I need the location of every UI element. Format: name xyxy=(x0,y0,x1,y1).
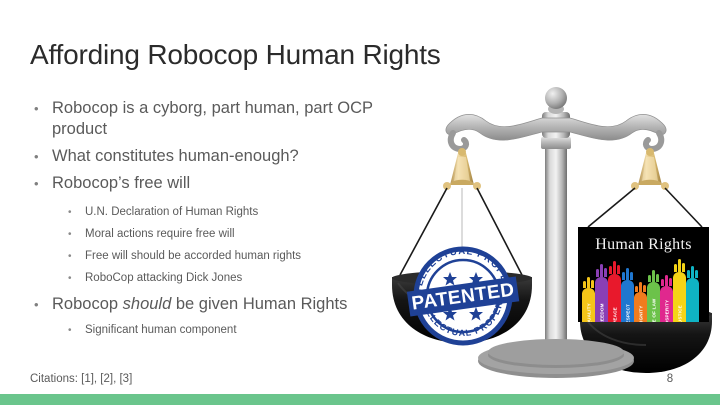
hand-label: RULE OF LAW xyxy=(651,299,656,322)
hand-label: RESPECT xyxy=(625,304,630,322)
bullet-marker: • xyxy=(30,294,52,315)
bullet-text: Robocop’s free will xyxy=(52,173,190,194)
accent-bottom-bar xyxy=(0,394,720,405)
hand-peace: PEACE xyxy=(608,274,621,322)
hand-peace-green: RULE OF LAW xyxy=(647,282,660,322)
sub-bullet-item: • Free will should be accorded human rig… xyxy=(30,247,430,266)
bullet-marker: • xyxy=(68,225,85,244)
sub-bullet-item: • U.N. Declaration of Human Rights xyxy=(30,203,430,222)
sub-bullet-text: Moral actions require free will xyxy=(85,225,235,244)
sub-bullet-text: Significant human component xyxy=(85,321,237,340)
bullet-item: • Robocop should be given Human Rights xyxy=(30,294,430,315)
poster-title: Human Rights xyxy=(578,236,709,254)
raised-hands-graphic: EQUALITY FREEDOM PEACE xyxy=(578,267,709,322)
bullet-item: • What constitutes human-enough? xyxy=(30,146,430,167)
hand-dignity: DIGNITY xyxy=(634,292,647,322)
hand-label: JUSTICE xyxy=(677,305,682,322)
bullet-marker: • xyxy=(68,247,85,266)
patented-stamp: INTELLECTUAL PROPERTY INTELLECTUAL PROPE… xyxy=(404,237,522,355)
sub-bullet-text: RoboCop attacking Dick Jones xyxy=(85,269,242,288)
hand-prosperity-pink: PROSPERITY xyxy=(660,286,673,322)
hand-equality: EQUALITY xyxy=(582,288,595,322)
slide-number: 8 xyxy=(655,373,685,385)
bullet-marker: • xyxy=(30,146,52,167)
human-rights-poster: Human Rights EQUALITY FREEDOM xyxy=(578,227,709,322)
hand-label: FREEDOM xyxy=(599,303,604,322)
hand-justice-yellow: JUSTICE xyxy=(673,272,686,322)
bullet-text: Robocop is a cyborg, part human, part OC… xyxy=(52,98,430,140)
hand-teal xyxy=(686,278,699,322)
bullet-item: • Robocop’s free will xyxy=(30,173,430,194)
hand-label: DIGNITY xyxy=(638,305,643,322)
bullet-text-pre: Robocop xyxy=(52,295,123,313)
sub-bullet-text: Free will should be accorded human right… xyxy=(85,247,301,266)
slide-title: Affording Robocop Human Rights xyxy=(30,40,500,71)
right-hanger xyxy=(631,148,669,190)
bullet-marker: • xyxy=(30,98,52,119)
sub-bullet-item: • RoboCop attacking Dick Jones xyxy=(30,269,430,288)
balance-scales-illustration: INTELLECTUAL PROPERTY INTELLECTUAL PROPE… xyxy=(390,85,720,395)
hand-freedom: FREEDOM xyxy=(595,277,608,322)
presentation-slide: Affording Robocop Human Rights • Robocop… xyxy=(0,0,720,405)
bullet-text-post: be given Human Rights xyxy=(171,295,347,313)
sub-bullet-text: U.N. Declaration of Human Rights xyxy=(85,203,258,222)
bullet-item: • Robocop is a cyborg, part human, part … xyxy=(30,98,430,140)
bullet-text: What constitutes human-enough? xyxy=(52,146,299,167)
bullet-marker: • xyxy=(68,203,85,222)
hand-label: PEACE xyxy=(612,307,617,322)
hand-label: PROSPERITY xyxy=(664,300,669,322)
hand-label: EQUALITY xyxy=(586,303,591,322)
hand-respect: RESPECT xyxy=(621,280,634,322)
bullet-marker: • xyxy=(68,321,85,340)
bullet-marker: • xyxy=(30,173,52,194)
sub-bullet-item: • Moral actions require free will xyxy=(30,225,430,244)
citations-footer: Citations: [1], [2], [3] xyxy=(30,373,132,385)
sub-bullet-item: • Significant human component xyxy=(30,321,430,340)
left-hanger xyxy=(443,148,481,190)
bullet-text-italic: should xyxy=(123,295,172,313)
bullet-marker: • xyxy=(68,269,85,288)
bullet-list: • Robocop is a cyborg, part human, part … xyxy=(30,98,430,343)
bullet-text-emphasis: Robocop should be given Human Rights xyxy=(52,294,347,315)
